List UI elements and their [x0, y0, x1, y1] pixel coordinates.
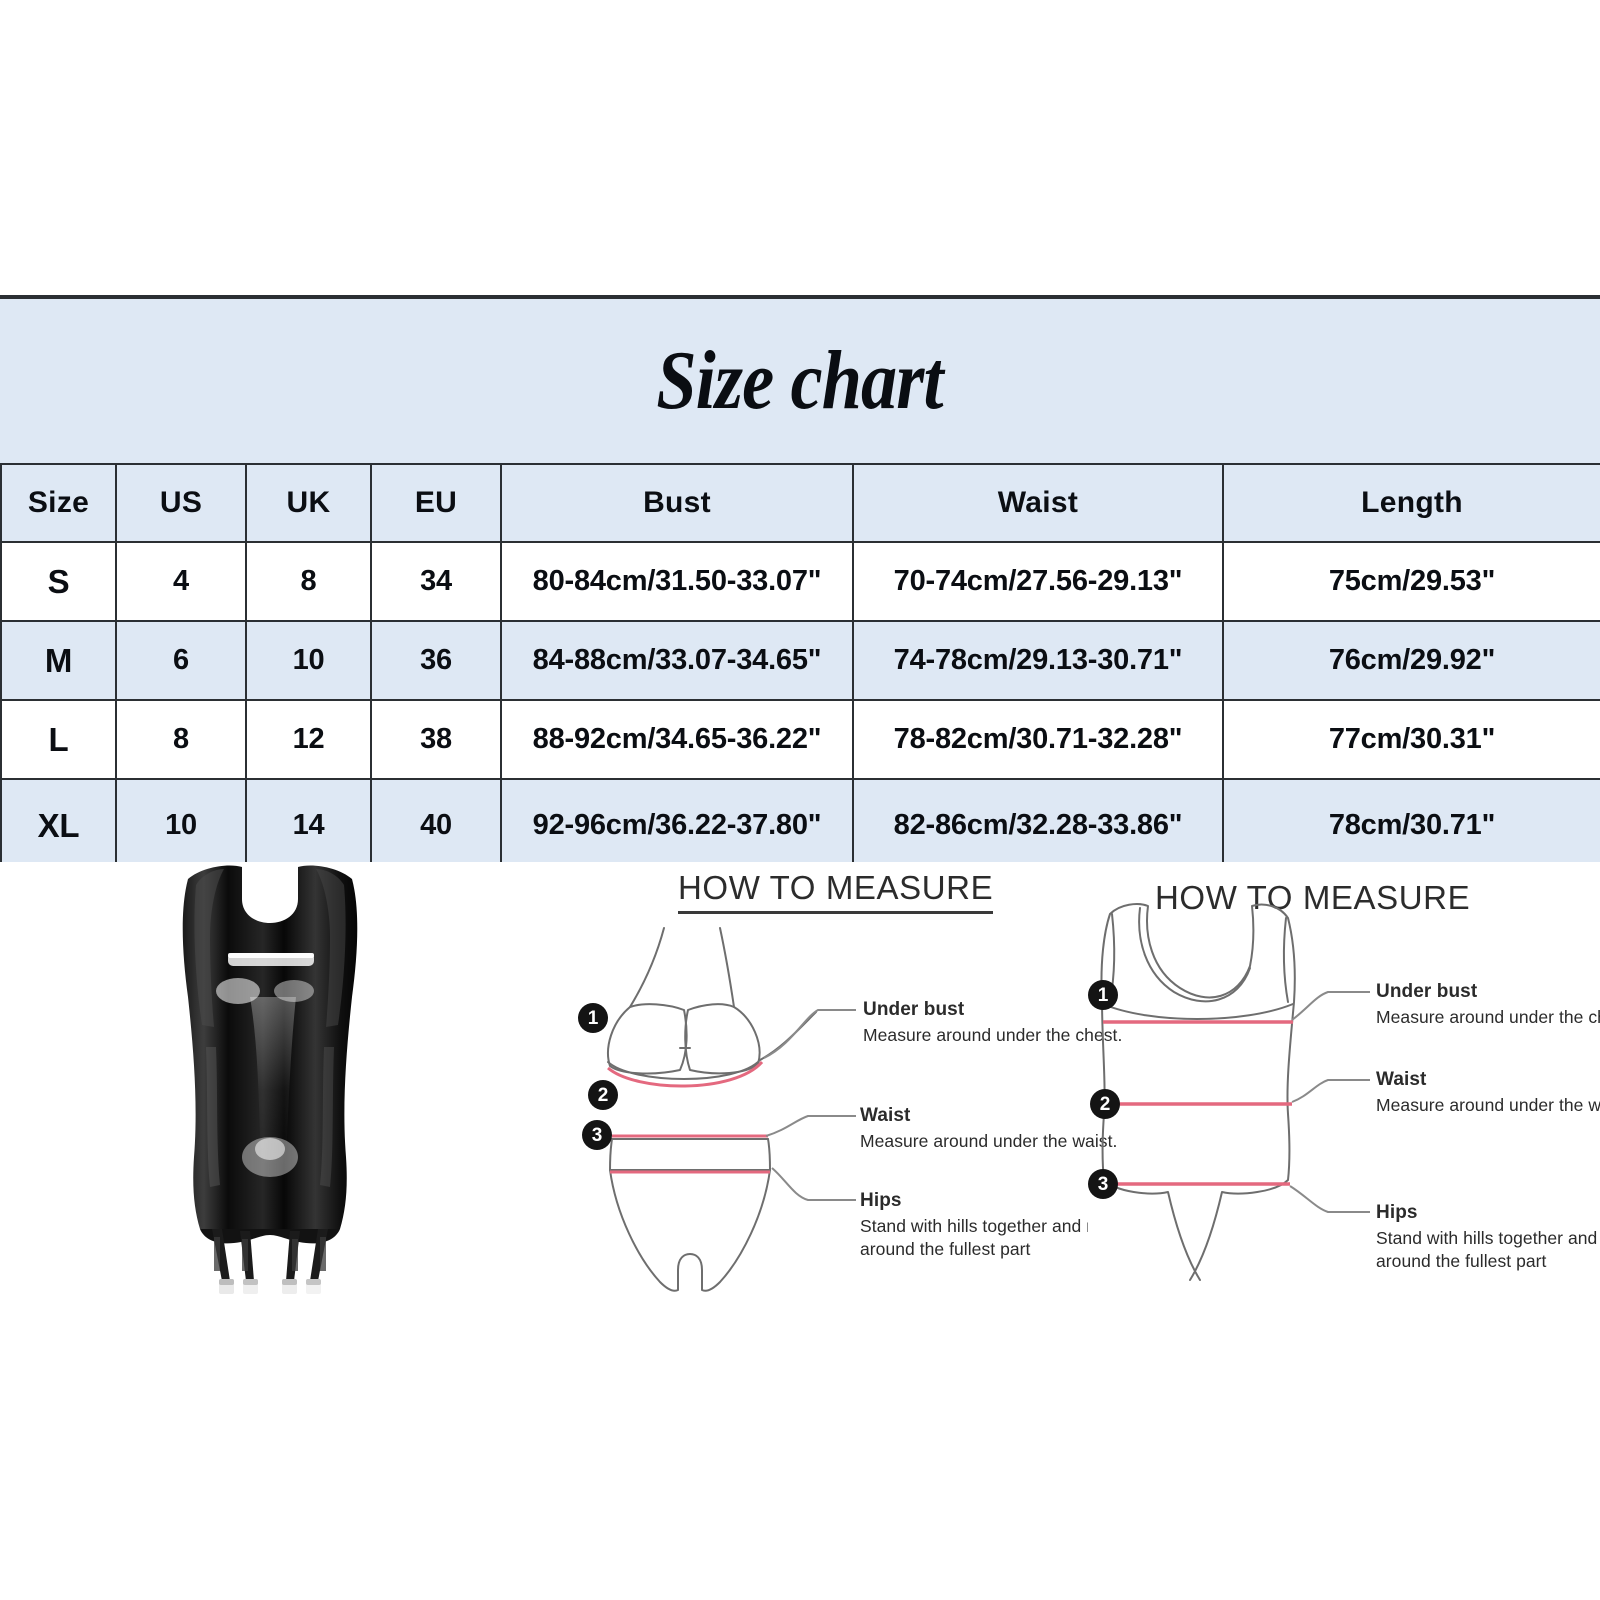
- table-row: M 6 10 36 84-88cm/33.07-34.65" 74-78cm/2…: [1, 621, 1600, 700]
- badge-3-right: 3: [1088, 1169, 1118, 1199]
- badge-2-right: 2: [1090, 1089, 1120, 1119]
- page-title: Size chart: [657, 339, 943, 423]
- cell-bust: 92-96cm/36.22-37.80": [501, 779, 853, 872]
- cell-size: S: [1, 542, 116, 621]
- label-title: Waist: [1376, 1069, 1600, 1091]
- label-desc: Measure around under the chest.: [1376, 1006, 1600, 1029]
- cell-waist: 78-82cm/30.71-32.28": [853, 700, 1223, 779]
- col-header-waist: Waist: [853, 464, 1223, 542]
- label-title: Hips: [1376, 1202, 1600, 1224]
- label-desc-line2: around the fullest part: [1376, 1250, 1600, 1273]
- badge-1-left: 1: [578, 1003, 608, 1033]
- label-hips-right: Hips Stand with hills together and measu…: [1376, 1202, 1600, 1273]
- col-header-size: Size: [1, 464, 116, 542]
- col-header-uk: UK: [246, 464, 371, 542]
- cell-bust: 88-92cm/34.65-36.22": [501, 700, 853, 779]
- table-row: S 4 8 34 80-84cm/31.50-33.07" 70-74cm/27…: [1, 542, 1600, 621]
- cell-us: 8: [116, 700, 246, 779]
- cell-size: L: [1, 700, 116, 779]
- lower-panel: HOW TO MEASURE: [0, 862, 1600, 1313]
- cell-waist: 74-78cm/29.13-30.71": [853, 621, 1223, 700]
- label-waist-right: Waist Measure around under the waist.: [1376, 1069, 1600, 1117]
- cell-uk: 8: [246, 542, 371, 621]
- cell-eu: 38: [371, 700, 501, 779]
- badge-2-left: 2: [588, 1080, 618, 1110]
- label-desc: Measure around under the waist.: [1376, 1094, 1600, 1117]
- how-to-measure-bodysuit: HOW TO MEASURE: [1040, 862, 1600, 1313]
- bottom-margin: [0, 1313, 1600, 1600]
- badge-1-right: 1: [1088, 980, 1118, 1010]
- cell-uk: 12: [246, 700, 371, 779]
- col-header-eu: EU: [371, 464, 501, 542]
- cell-size: XL: [1, 779, 116, 872]
- table-row: L 8 12 38 88-92cm/34.65-36.22" 78-82cm/3…: [1, 700, 1600, 779]
- cell-waist: 70-74cm/27.56-29.13": [853, 542, 1223, 621]
- label-desc-line1: Stand with hills together and measure: [1376, 1227, 1600, 1250]
- cell-size: M: [1, 621, 116, 700]
- top-margin: [0, 0, 1600, 295]
- cell-waist: 82-86cm/32.28-33.86": [853, 779, 1223, 872]
- cell-length: 78cm/30.71": [1223, 779, 1600, 872]
- badge-3-left: 3: [582, 1120, 612, 1150]
- cell-us: 4: [116, 542, 246, 621]
- product-photo: [110, 857, 430, 1317]
- label-under-bust-right: Under bust Measure around under the ches…: [1376, 981, 1600, 1029]
- cell-eu: 36: [371, 621, 501, 700]
- col-header-us: US: [116, 464, 246, 542]
- cell-eu: 34: [371, 542, 501, 621]
- table-header-row: Size US UK EU Bust Waist Length: [1, 464, 1600, 542]
- cell-us: 6: [116, 621, 246, 700]
- cell-bust: 80-84cm/31.50-33.07": [501, 542, 853, 621]
- col-header-bust: Bust: [501, 464, 853, 542]
- label-title: Under bust: [1376, 981, 1600, 1003]
- cell-length: 76cm/29.92": [1223, 621, 1600, 700]
- cell-length: 77cm/30.31": [1223, 700, 1600, 779]
- title-band: Size chart: [0, 299, 1600, 463]
- size-chart-card: Size chart Size US UK EU Bust Waist Leng…: [0, 295, 1600, 1313]
- cell-uk: 10: [246, 621, 371, 700]
- how-to-measure-bikini: HOW TO MEASURE: [560, 862, 1080, 1313]
- cell-bust: 84-88cm/33.07-34.65": [501, 621, 853, 700]
- cell-length: 75cm/29.53": [1223, 542, 1600, 621]
- size-table: Size US UK EU Bust Waist Length S 4 8 34…: [0, 463, 1600, 873]
- size-chart-page: Size chart Size US UK EU Bust Waist Leng…: [0, 0, 1600, 1600]
- col-header-length: Length: [1223, 464, 1600, 542]
